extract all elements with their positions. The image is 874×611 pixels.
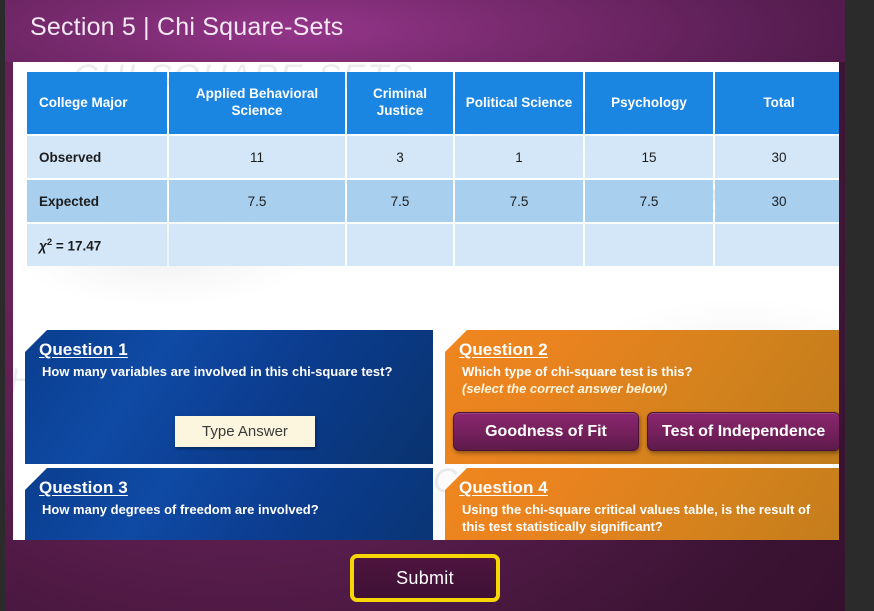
table-header-cell: Psychology xyxy=(585,72,713,134)
page-title: Section 5 | Chi Square-Sets xyxy=(30,13,343,42)
table-cell: 1 xyxy=(455,136,583,178)
question-2-hint: (select the correct answer below) xyxy=(462,380,829,397)
table-header-cell: Applied Behavioral Science xyxy=(169,72,345,134)
chi-symbol: χ xyxy=(39,238,47,253)
question-4-title: Question 4 xyxy=(459,478,829,498)
choice-goodness-of-fit[interactable]: Goodness of Fit xyxy=(453,412,639,451)
table-cell xyxy=(169,224,345,266)
table-cell: 30 xyxy=(715,136,839,178)
slide-header: Section 5 | Chi Square-Sets xyxy=(5,0,845,62)
submit-button[interactable]: Submit xyxy=(350,554,500,602)
choice-test-of-independence[interactable]: Test of Independence xyxy=(647,412,839,451)
table-cell: 7.5 xyxy=(347,180,453,222)
table-cell: 11 xyxy=(169,136,345,178)
table-row: Expected 7.5 7.5 7.5 7.5 30 xyxy=(27,180,839,222)
question-4-text: Using the chi-square critical values tab… xyxy=(462,501,829,535)
table-cell xyxy=(455,224,583,266)
question-1-answer-input[interactable] xyxy=(175,416,315,447)
question-3-title: Question 3 xyxy=(39,478,421,498)
question-2-choices: Goodness of Fit Test of Independence xyxy=(453,412,839,451)
table-cell: 3 xyxy=(347,136,453,178)
question-panel-4: Question 4 Using the chi-square critical… xyxy=(445,468,839,540)
question-3-text: How many degrees of freedom are involved… xyxy=(42,501,421,518)
table-row: χ2 = 17.47 xyxy=(27,224,839,266)
question-panel-2: Question 2 Which type of chi-square test… xyxy=(445,330,839,464)
table-cell: 7.5 xyxy=(169,180,345,222)
question-panel-3: Question 3 How many degrees of freedom a… xyxy=(25,468,433,540)
table-header-cell: Total xyxy=(715,72,839,134)
table-cell: 30 xyxy=(715,180,839,222)
row-label-expected: Expected xyxy=(27,180,167,222)
table-cell: 15 xyxy=(585,136,713,178)
question-2-text: Which type of chi-square test is this? xyxy=(462,363,829,380)
question-1-text: How many variables are involved in this … xyxy=(42,363,421,380)
right-edge-gutter xyxy=(845,0,874,611)
table-header-cell: College Major xyxy=(27,72,167,134)
table-header-cell: Criminal Justice xyxy=(347,72,453,134)
table-row: Observed 11 3 1 15 30 xyxy=(27,136,839,178)
table-cell xyxy=(715,224,839,266)
chi-value: = 17.47 xyxy=(52,238,101,253)
chi-square-statistic: χ2 = 17.47 xyxy=(27,224,167,266)
content-card: CHI SQUARE-SETS CHI SQUARE-SETS CHI SQUA… xyxy=(13,62,839,540)
table-cell: 7.5 xyxy=(455,180,583,222)
left-edge-gutter xyxy=(0,0,5,611)
question-2-title: Question 2 xyxy=(459,340,829,360)
table-header-cell: Political Science xyxy=(455,72,583,134)
table-cell xyxy=(347,224,453,266)
table-cell xyxy=(585,224,713,266)
slide-canvas: Section 5 | Chi Square-Sets CHI SQUARE-S… xyxy=(5,0,845,611)
row-label-observed: Observed xyxy=(27,136,167,178)
question-panel-1: Question 1 How many variables are involv… xyxy=(25,330,433,464)
table-cell: 7.5 xyxy=(585,180,713,222)
table-header-row: College Major Applied Behavioral Science… xyxy=(27,72,839,134)
chi-square-table: College Major Applied Behavioral Science… xyxy=(25,70,839,268)
question-1-title: Question 1 xyxy=(39,340,421,360)
